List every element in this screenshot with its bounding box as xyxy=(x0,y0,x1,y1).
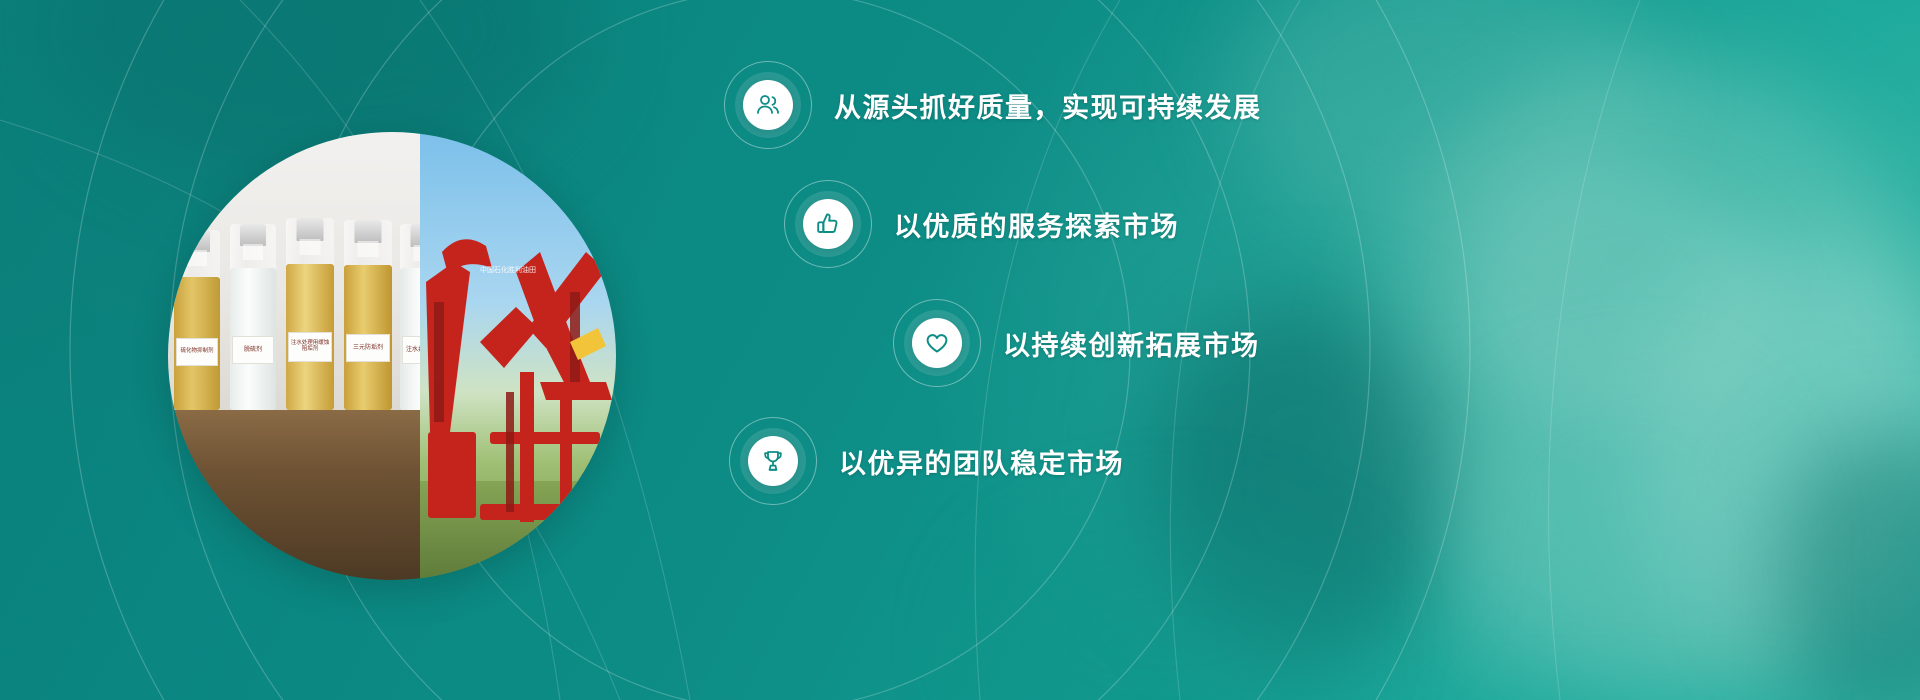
oil-pump-photo: 中国石化胜利油田 xyxy=(420,132,616,580)
feature-icon-wrap xyxy=(724,61,812,149)
worker-silhouette xyxy=(1455,360,1795,690)
bottle-label: 注水井除垢剂 xyxy=(402,336,420,364)
feature-row-innovation-market[interactable]: 以持续创新拓展市场 xyxy=(893,299,1260,387)
bottle: 硫化物抑制剂 xyxy=(174,230,220,410)
feature-label: 以优质的服务探索市场 xyxy=(894,205,1179,244)
hero-banner: 硫化物抑制剂 脱硫剂 注水处理用缓蚀阻垢剂 三元防垢剂 xyxy=(0,0,1920,700)
photo-table xyxy=(168,410,420,580)
bottle-label: 三元防垢剂 xyxy=(346,334,390,362)
feature-row-sustainable-development[interactable]: 从源头抓好质量，实现可持续发展 xyxy=(724,61,1262,149)
feature-label: 以持续创新拓展市场 xyxy=(1003,324,1260,363)
feature-icon-wrap xyxy=(729,417,817,505)
bottle-label: 硫化物抑制剂 xyxy=(176,338,218,366)
pumpjack-graphic: 中国石化胜利油田 xyxy=(420,132,616,580)
feature-icon-wrap xyxy=(784,180,872,268)
bottle: 三元防垢剂 xyxy=(344,220,392,410)
feature-label: 从源头抓好质量，实现可持续发展 xyxy=(834,86,1262,125)
feature-row-quality-service[interactable]: 以优质的服务探索市场 xyxy=(784,180,1179,268)
bottle: 脱硫剂 xyxy=(230,224,276,410)
bottle-label: 脱硫剂 xyxy=(232,336,274,364)
background-blob xyxy=(980,520,1360,700)
thumbs-up-icon xyxy=(803,199,853,249)
users-icon xyxy=(743,80,793,130)
chemical-bottles-photo: 硫化物抑制剂 脱硫剂 注水处理用缓蚀阻垢剂 三元防垢剂 xyxy=(168,132,420,580)
heart-icon xyxy=(912,318,962,368)
rig-sign-text: 中国石化胜利油田 xyxy=(480,265,536,274)
feature-label: 以优异的团队稳定市场 xyxy=(839,442,1124,481)
bottle: 注水井除垢剂 xyxy=(400,224,420,410)
product-photo-circle: 硫化物抑制剂 脱硫剂 注水处理用缓蚀阻垢剂 三元防垢剂 xyxy=(168,132,616,580)
feature-icon-wrap xyxy=(893,299,981,387)
trophy-icon xyxy=(748,436,798,486)
bottle-label: 注水处理用缓蚀阻垢剂 xyxy=(288,332,332,362)
bottle: 注水处理用缓蚀阻垢剂 xyxy=(286,218,334,410)
feature-row-excellent-team[interactable]: 以优异的团队稳定市场 xyxy=(729,417,1124,505)
